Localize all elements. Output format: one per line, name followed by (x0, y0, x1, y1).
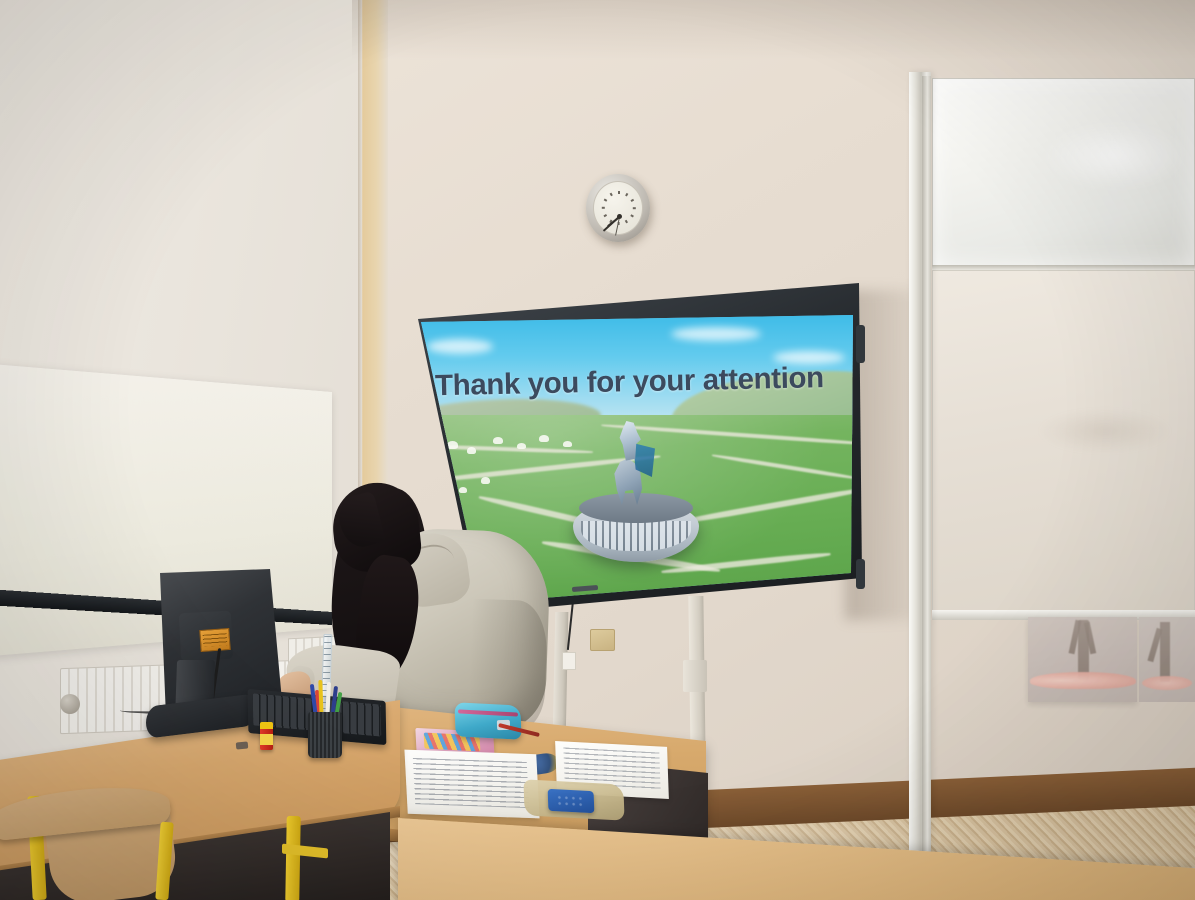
ceiling-shadow (352, 0, 1195, 60)
yurt (563, 441, 572, 447)
board-eraser-texture (556, 794, 584, 806)
yurt (481, 477, 490, 484)
asset-tag-barcode (203, 633, 228, 647)
classroom-scene: Thank you for your attention (0, 0, 1195, 900)
yurt (493, 437, 503, 444)
clock-face (593, 181, 643, 235)
blossom-petals (1030, 672, 1136, 689)
cloud (427, 339, 493, 354)
clock-center-pin (617, 214, 622, 219)
display-side-handle[interactable] (856, 559, 865, 589)
display-stand-bracket (683, 660, 707, 692)
cloud (671, 327, 761, 341)
whiteboard-smudge (1040, 410, 1170, 452)
whiteboard-glare (1040, 120, 1190, 190)
display-side-handle[interactable] (856, 325, 865, 363)
glue-stick-cap (260, 722, 273, 729)
yurt (517, 443, 526, 449)
worksheet-text (413, 758, 529, 808)
pen-cup[interactable] (308, 712, 342, 758)
yurt (467, 447, 476, 454)
radiator-valve[interactable] (60, 694, 80, 714)
pencil-case[interactable] (454, 702, 521, 740)
light-switch[interactable] (562, 652, 576, 670)
chair-leg (285, 816, 300, 900)
wall-clock-icon (586, 174, 650, 242)
whiteboard-rail-inner (922, 76, 931, 900)
yurt (459, 487, 467, 493)
blossom-petals (1142, 676, 1192, 690)
eraser[interactable] (236, 741, 249, 749)
glue-stick-label (260, 734, 273, 745)
yurt (539, 435, 549, 442)
wall-socket[interactable] (590, 629, 615, 651)
